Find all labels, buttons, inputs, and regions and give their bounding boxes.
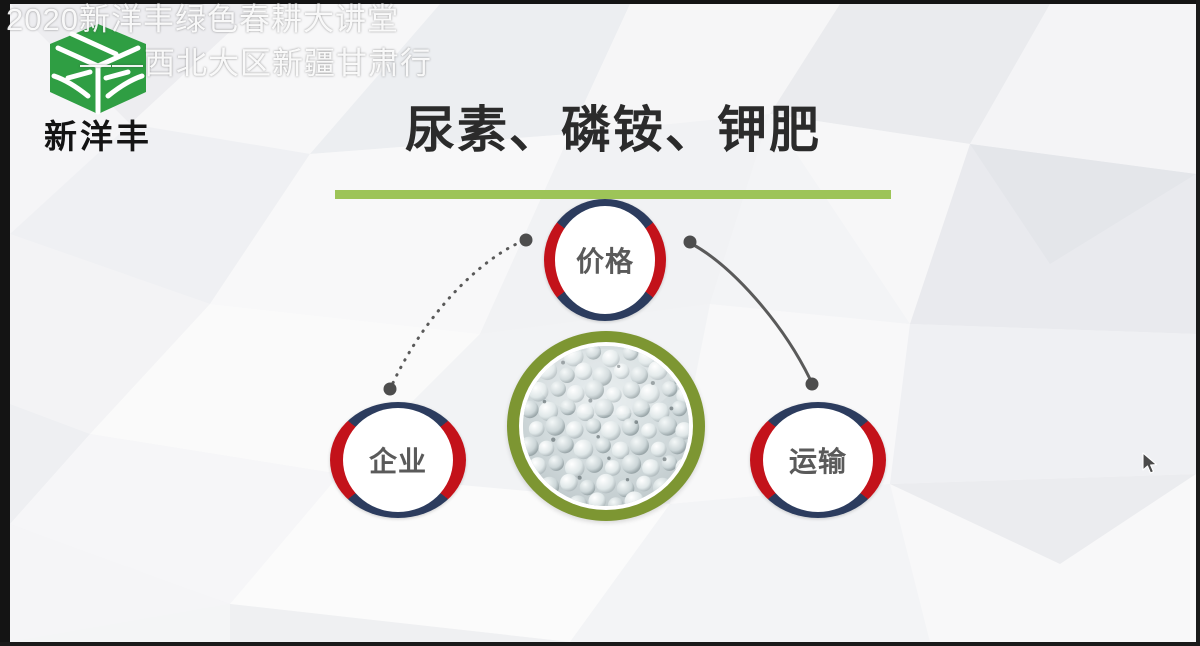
node-label-transport: 运输 xyxy=(789,440,847,480)
slide-title: 尿素、磷铵、钾肥 xyxy=(335,99,891,161)
player-frame-right xyxy=(1196,0,1200,646)
player-frame-left xyxy=(0,0,10,646)
green-cube-logo-icon xyxy=(46,22,150,116)
slide-surface: 新洋丰 尿素、磷铵、钾肥 xyxy=(10,4,1196,642)
diagram-node-transport[interactable]: 运输 xyxy=(750,402,886,518)
player-frame-bottom xyxy=(0,642,1200,646)
diagram-node-price[interactable]: 价格 xyxy=(544,199,666,321)
connector-price-to-transport xyxy=(684,236,819,391)
medallion-white-ring xyxy=(519,342,693,510)
center-product-medallion xyxy=(507,331,705,521)
connector-price-to-enterprise xyxy=(384,234,533,396)
brand-logo: 新洋丰 xyxy=(28,22,168,156)
fertilizer-granules-photo xyxy=(523,346,689,506)
diagram-node-enterprise[interactable]: 企业 xyxy=(330,402,466,518)
title-underline-rule xyxy=(335,190,891,199)
node-label-price: 价格 xyxy=(576,240,634,280)
video-player-screen: 新洋丰 尿素、磷铵、钾肥 xyxy=(0,0,1200,646)
node-label-enterprise: 企业 xyxy=(369,440,427,480)
brand-logo-text: 新洋丰 xyxy=(28,118,168,156)
